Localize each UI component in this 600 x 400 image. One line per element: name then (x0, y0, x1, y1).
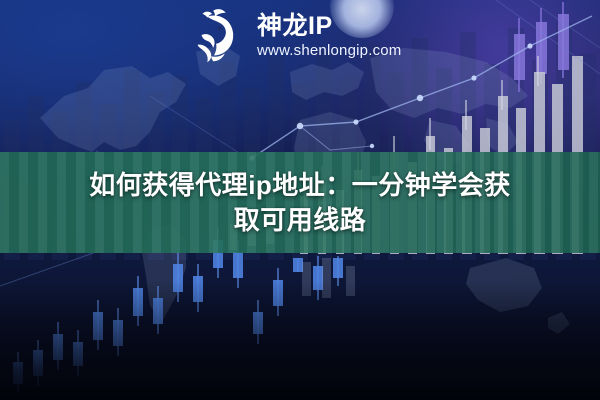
brand-text: 神龙IP www.shenlongip.com (257, 13, 402, 61)
promo-banner-image: 如何获得代理ip地址：一分钟学会获 取可用线路 (0, 0, 600, 400)
brand-logo[interactable]: 神龙IP www.shenlongip.com (186, 6, 402, 68)
brand-url: www.shenlongip.com (257, 42, 402, 61)
title-line-1: 如何获得代理ip地址：一分钟学会获 (30, 168, 570, 203)
title-line-2: 取可用线路 (30, 203, 570, 238)
title-banner-band: 如何获得代理ip地址：一分钟学会获 取可用线路 (0, 152, 600, 253)
page-title: 如何获得代理ip地址：一分钟学会获 取可用线路 (30, 168, 570, 237)
dragon-head-icon (186, 6, 248, 68)
brand-name: 神龙IP (257, 13, 402, 41)
